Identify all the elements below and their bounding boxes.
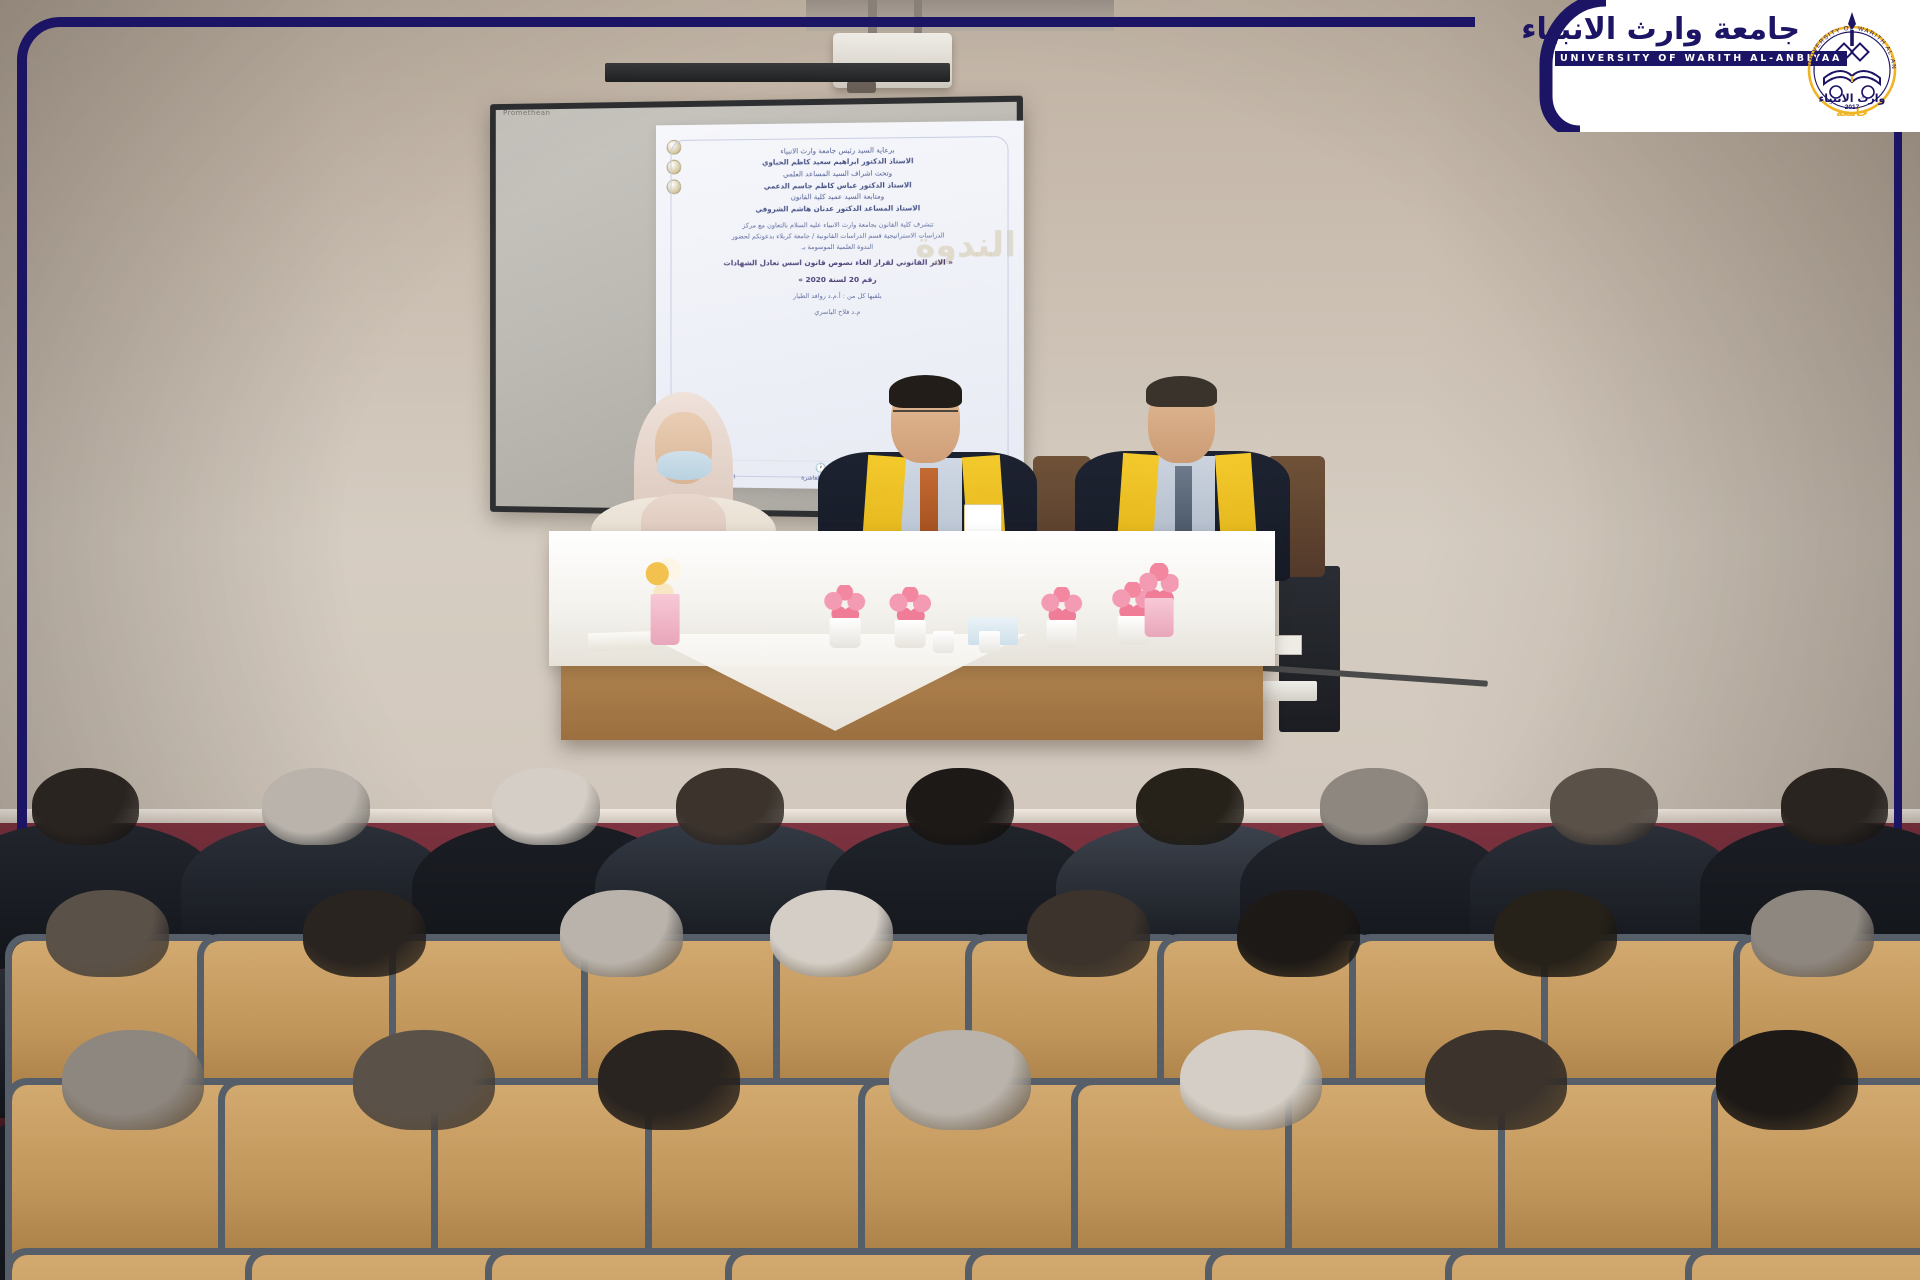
audience-member-head xyxy=(262,768,370,845)
audience-member-head xyxy=(62,1030,204,1130)
audience-member-head xyxy=(889,1030,1031,1130)
audience-member-head xyxy=(1716,1030,1858,1130)
audience-member-head xyxy=(1425,1030,1567,1130)
audience-member-head xyxy=(1237,890,1360,977)
audience-member-head xyxy=(492,768,600,845)
audience-member-head xyxy=(353,1030,495,1130)
audience-member-head xyxy=(1751,890,1874,977)
audience-member-head xyxy=(676,768,784,845)
audience-member-head xyxy=(906,768,1014,845)
audience-member-head xyxy=(1320,768,1428,845)
audience-member-head xyxy=(303,890,426,977)
audience-member-head xyxy=(1180,1030,1322,1130)
audience-member-head xyxy=(1494,890,1617,977)
audience-member-head xyxy=(32,768,140,845)
audience-member-head xyxy=(1550,768,1658,845)
seminar-photo-card: Promethean الندوة برعاية السيد رئيس جامع… xyxy=(0,0,1920,1280)
audience-member-head xyxy=(770,890,893,977)
audience-member-head xyxy=(560,890,683,977)
audience-member-head xyxy=(1136,768,1244,845)
audience-chair xyxy=(1692,1255,1920,1280)
audience-member-head xyxy=(46,890,169,977)
audience-member-head xyxy=(1781,768,1889,845)
audience-member-head xyxy=(1027,890,1150,977)
audience-member-head xyxy=(598,1030,740,1130)
